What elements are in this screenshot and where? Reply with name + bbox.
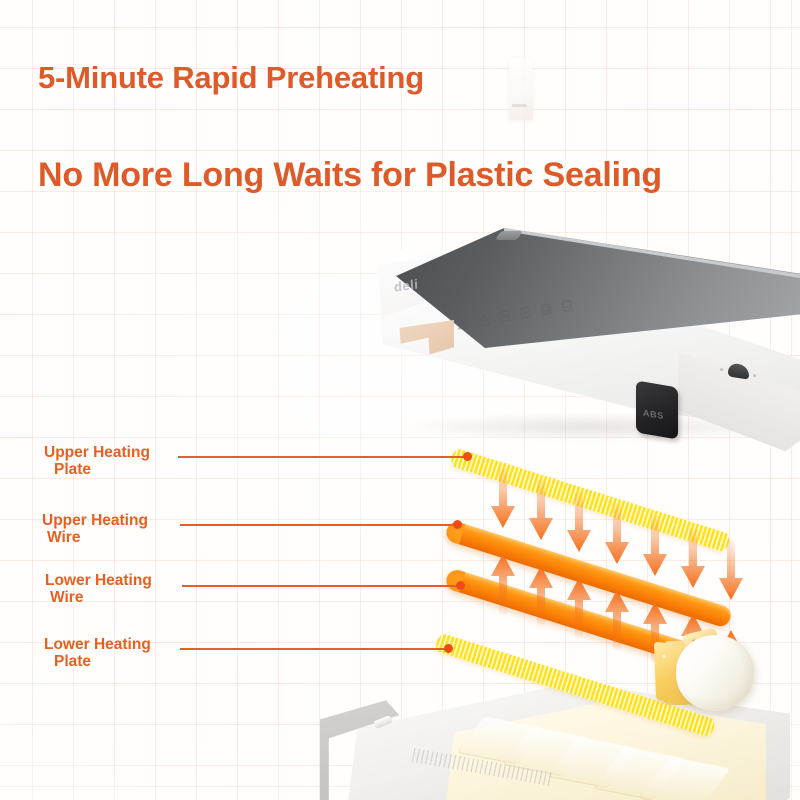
callout-endpoint-dot — [456, 581, 465, 590]
roller-cap — [676, 635, 754, 711]
callout-label-line1: Upper Heating — [44, 444, 150, 462]
heat-arrow-up — [490, 552, 516, 614]
heat-arrow-down — [604, 504, 630, 566]
callout-label-line2: Plate — [54, 653, 91, 671]
heat-arrow-down — [528, 480, 554, 542]
callout-leader-line — [182, 585, 460, 587]
callout-leader-line — [178, 456, 467, 458]
callout-endpoint-dot — [463, 452, 472, 461]
infographic-canvas: 5-Minute Rapid Preheating No More Long W… — [0, 0, 800, 800]
heat-arrow-down — [680, 528, 706, 590]
callout-label-line2: Wire — [47, 529, 80, 547]
callout-label-line1: Upper Heating — [42, 512, 148, 530]
heat-arrow-down — [718, 540, 744, 602]
heat-arrow-up — [566, 576, 592, 638]
heat-arrow-up — [604, 588, 630, 650]
callout-endpoint-dot — [444, 644, 453, 653]
heat-arrow-down — [642, 516, 668, 578]
callout-leader-line — [180, 524, 457, 526]
callout-label-line2: Wire — [50, 589, 83, 607]
callout-endpoint-dot — [453, 520, 462, 529]
callout-label-line1: Lower Heating — [45, 572, 152, 590]
callout-leader-line — [180, 648, 448, 650]
heating-assembly — [0, 0, 800, 800]
heat-arrow-up — [528, 564, 554, 626]
callout-label-line2: Plate — [54, 461, 91, 479]
heat-arrow-down — [566, 492, 592, 554]
heat-arrow-down — [490, 468, 516, 530]
callout-label-line1: Lower Heating — [44, 636, 151, 654]
